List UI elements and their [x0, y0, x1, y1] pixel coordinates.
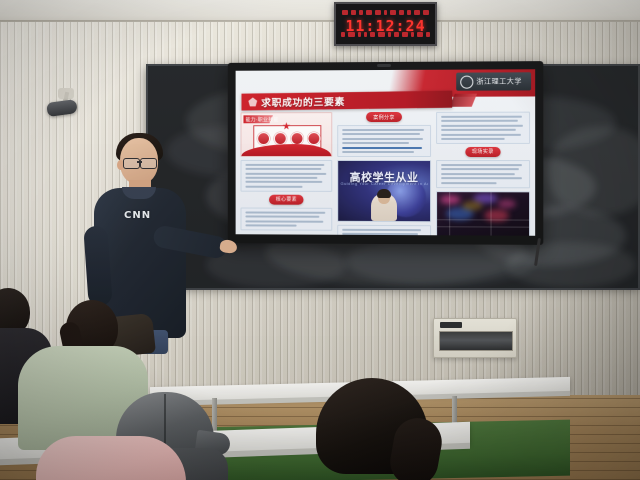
logo-text: 浙江理工大学 — [476, 76, 522, 86]
column1-banner: 能力·职业技能 岗位胜任力模型 — [241, 112, 333, 157]
ac-grille — [439, 331, 513, 351]
column3-performance-photo — [436, 191, 530, 236]
led-clock: 11:12:24 — [334, 2, 437, 46]
text-line — [343, 233, 419, 235]
led-segment — [378, 32, 385, 37]
text-line — [343, 129, 425, 131]
led-segment — [399, 10, 405, 15]
slide-title-tail — [450, 94, 477, 107]
classroom-photo: 11:12:24 浙江理工大学 求职成功的三要素 — [0, 0, 640, 480]
slide-column-2: 案例分享 高校学生从业 Guiding Your Career Developm… — [338, 112, 431, 231]
text-line — [245, 177, 317, 179]
glasses-bridge-icon — [137, 161, 142, 163]
text-line — [343, 151, 414, 153]
text-line — [245, 172, 326, 174]
text-line — [245, 216, 319, 218]
text-line — [441, 182, 496, 184]
led-segment — [417, 32, 422, 37]
led-segment — [423, 10, 429, 15]
text-line — [245, 168, 321, 170]
pink-fleece — [36, 436, 186, 480]
stage-speaker-hair — [377, 189, 391, 198]
led-segment — [388, 32, 392, 37]
slide-column-3: 现场实录 — [436, 112, 530, 232]
stage-speaker-figure — [371, 193, 397, 221]
sweatshirt-chest-text: CNN — [124, 210, 151, 221]
ac-indicator-panel — [440, 322, 462, 328]
column1-textblock — [241, 160, 333, 192]
slide-columns: 能力·职业技能 岗位胜任力模型 — [241, 112, 531, 232]
stage-structure-line — [437, 226, 529, 227]
stage-photo-subtitle: Guiding Your Career Development in Advan… — [341, 181, 428, 186]
text-line — [343, 147, 423, 149]
column2-chip: 案例分享 — [366, 112, 402, 122]
glasses-left-lens-icon — [123, 158, 140, 169]
chalk-smear — [506, 242, 636, 288]
text-line — [245, 181, 322, 183]
university-logo: 浙江理工大学 — [456, 72, 531, 90]
column3-textblock-2 — [436, 160, 530, 188]
led-segment — [375, 10, 381, 15]
led-segment — [402, 32, 408, 37]
column3-chip: 现场实录 — [465, 147, 501, 157]
led-segment — [390, 10, 396, 15]
led-segment — [364, 32, 367, 37]
presentation-slide: 浙江理工大学 求职成功的三要素 能力·职业技能 — [236, 69, 536, 236]
column3-textblock — [436, 112, 530, 144]
text-line — [245, 211, 325, 213]
led-segment — [341, 32, 345, 37]
glasses-right-lens-icon — [140, 158, 157, 169]
led-segment — [366, 10, 372, 15]
stage-light-blob — [498, 199, 517, 208]
led-segment — [407, 10, 411, 15]
column2-textblock-2 — [338, 225, 431, 236]
text-line — [441, 116, 523, 118]
led-segment — [414, 10, 420, 15]
column1-chip: 核心要素 — [269, 195, 304, 205]
column1-badge: 能力·职业技能 — [245, 116, 278, 123]
led-date-row — [342, 8, 429, 17]
led-segment — [394, 32, 398, 37]
stage-light-blob — [462, 201, 482, 210]
column1-textblock-2 — [241, 207, 333, 230]
text-line — [245, 186, 302, 188]
text-line — [441, 168, 519, 170]
led-segment — [411, 32, 415, 37]
led-segment — [348, 32, 354, 37]
text-line — [441, 138, 505, 140]
stage-structure-line — [490, 192, 491, 236]
text-line — [343, 133, 420, 135]
text-line — [245, 164, 324, 166]
text-line — [245, 220, 323, 222]
student-pink-garment — [36, 436, 186, 480]
led-segment — [358, 32, 362, 37]
led-info-row — [341, 31, 430, 38]
column2-textblock — [338, 125, 431, 157]
led-segment — [384, 10, 388, 15]
student-center-dark-hair — [296, 378, 446, 480]
circle-icon — [274, 132, 287, 145]
slide-title: 求职成功的三要素 — [261, 93, 345, 109]
led-segment — [359, 10, 363, 15]
text-line — [245, 224, 296, 226]
circle-icon — [257, 132, 270, 145]
text-line — [441, 129, 516, 131]
led-segment — [351, 10, 357, 15]
text-line — [441, 164, 522, 166]
display-screen[interactable]: 浙江理工大学 求职成功的三要素 能力·职业技能 — [236, 69, 536, 236]
wall-display[interactable]: 浙江理工大学 求职成功的三要素 能力·职业技能 — [228, 61, 544, 245]
led-segment — [342, 10, 348, 15]
air-conditioner-unit — [433, 318, 517, 358]
circle-icon — [307, 132, 320, 145]
column2-stage-photo: 高校学生从业 Guiding Your Career Development i… — [338, 160, 431, 222]
slide-title-bar: 求职成功的三要素 — [241, 91, 452, 111]
stage-structure-line — [437, 219, 529, 220]
stage-structure-line — [450, 192, 451, 236]
led-segment — [370, 32, 375, 37]
text-line — [441, 125, 524, 127]
text-line — [343, 229, 422, 231]
text-line — [441, 133, 521, 135]
text-line — [441, 173, 515, 175]
text-line — [343, 138, 424, 140]
bullet-icon — [248, 97, 257, 106]
text-line — [441, 120, 518, 122]
banner-circle-icons — [257, 132, 320, 145]
led-segment — [426, 32, 430, 37]
text-line — [441, 177, 523, 179]
text-line — [343, 142, 409, 144]
display-camera-icon — [377, 64, 391, 67]
slide-column-1: 能力·职业技能 岗位胜任力模型 — [241, 112, 333, 231]
logo-mark-icon — [460, 75, 473, 88]
